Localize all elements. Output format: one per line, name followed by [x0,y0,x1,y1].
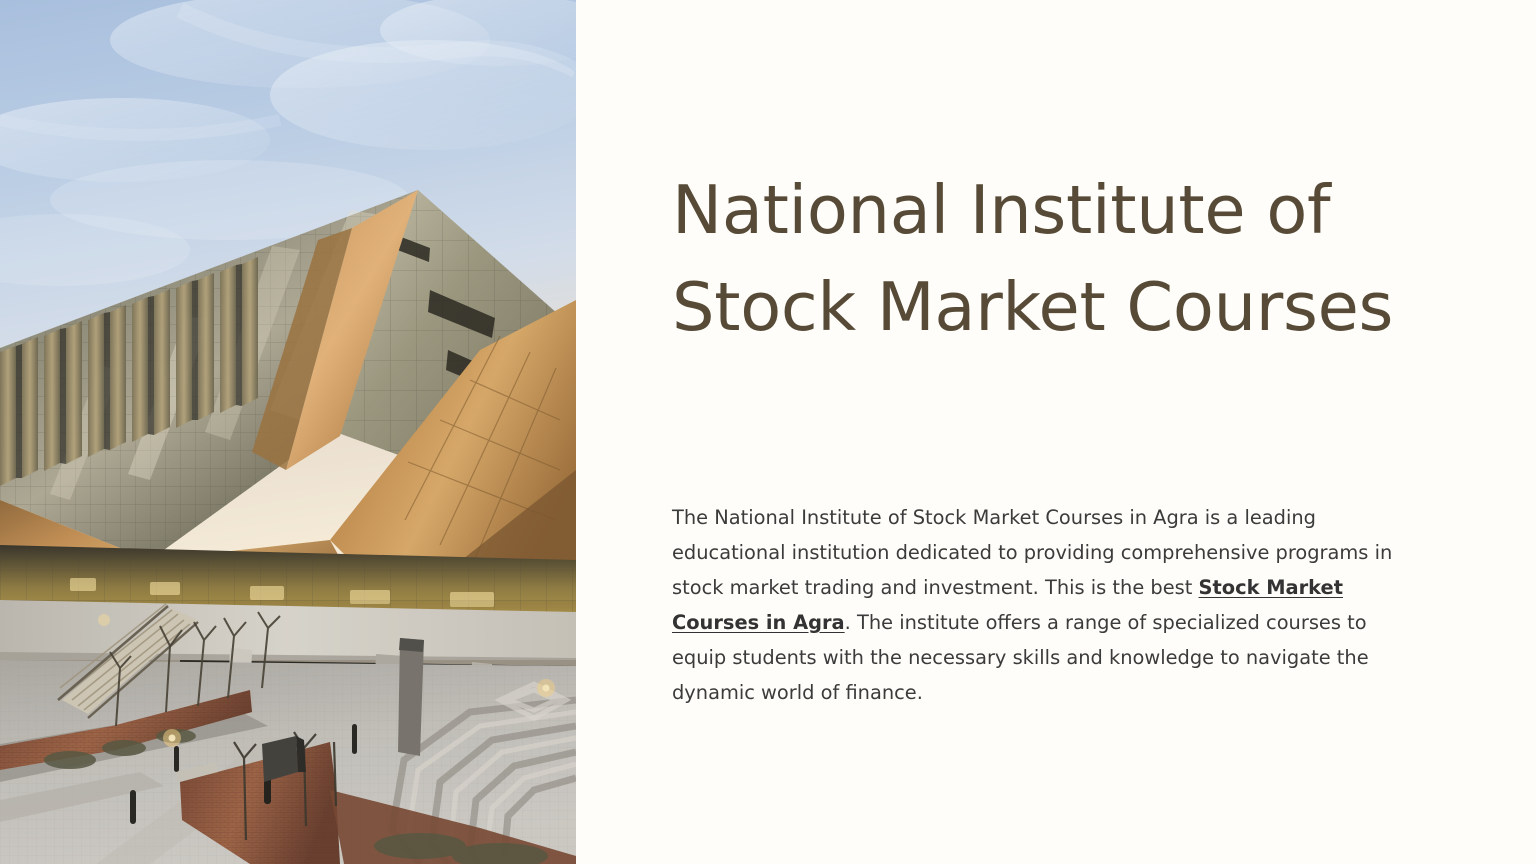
slide-root: National Institute of Stock Market Cours… [0,0,1536,864]
description-block: The National Institute of Stock Market C… [672,500,1408,710]
building-photo-illustration [0,0,576,864]
description-paragraph: The National Institute of Stock Market C… [672,500,1408,710]
content-panel: National Institute of Stock Market Cours… [576,0,1536,864]
page-title: National Institute of Stock Market Cours… [672,162,1398,356]
building-photo [0,0,576,864]
